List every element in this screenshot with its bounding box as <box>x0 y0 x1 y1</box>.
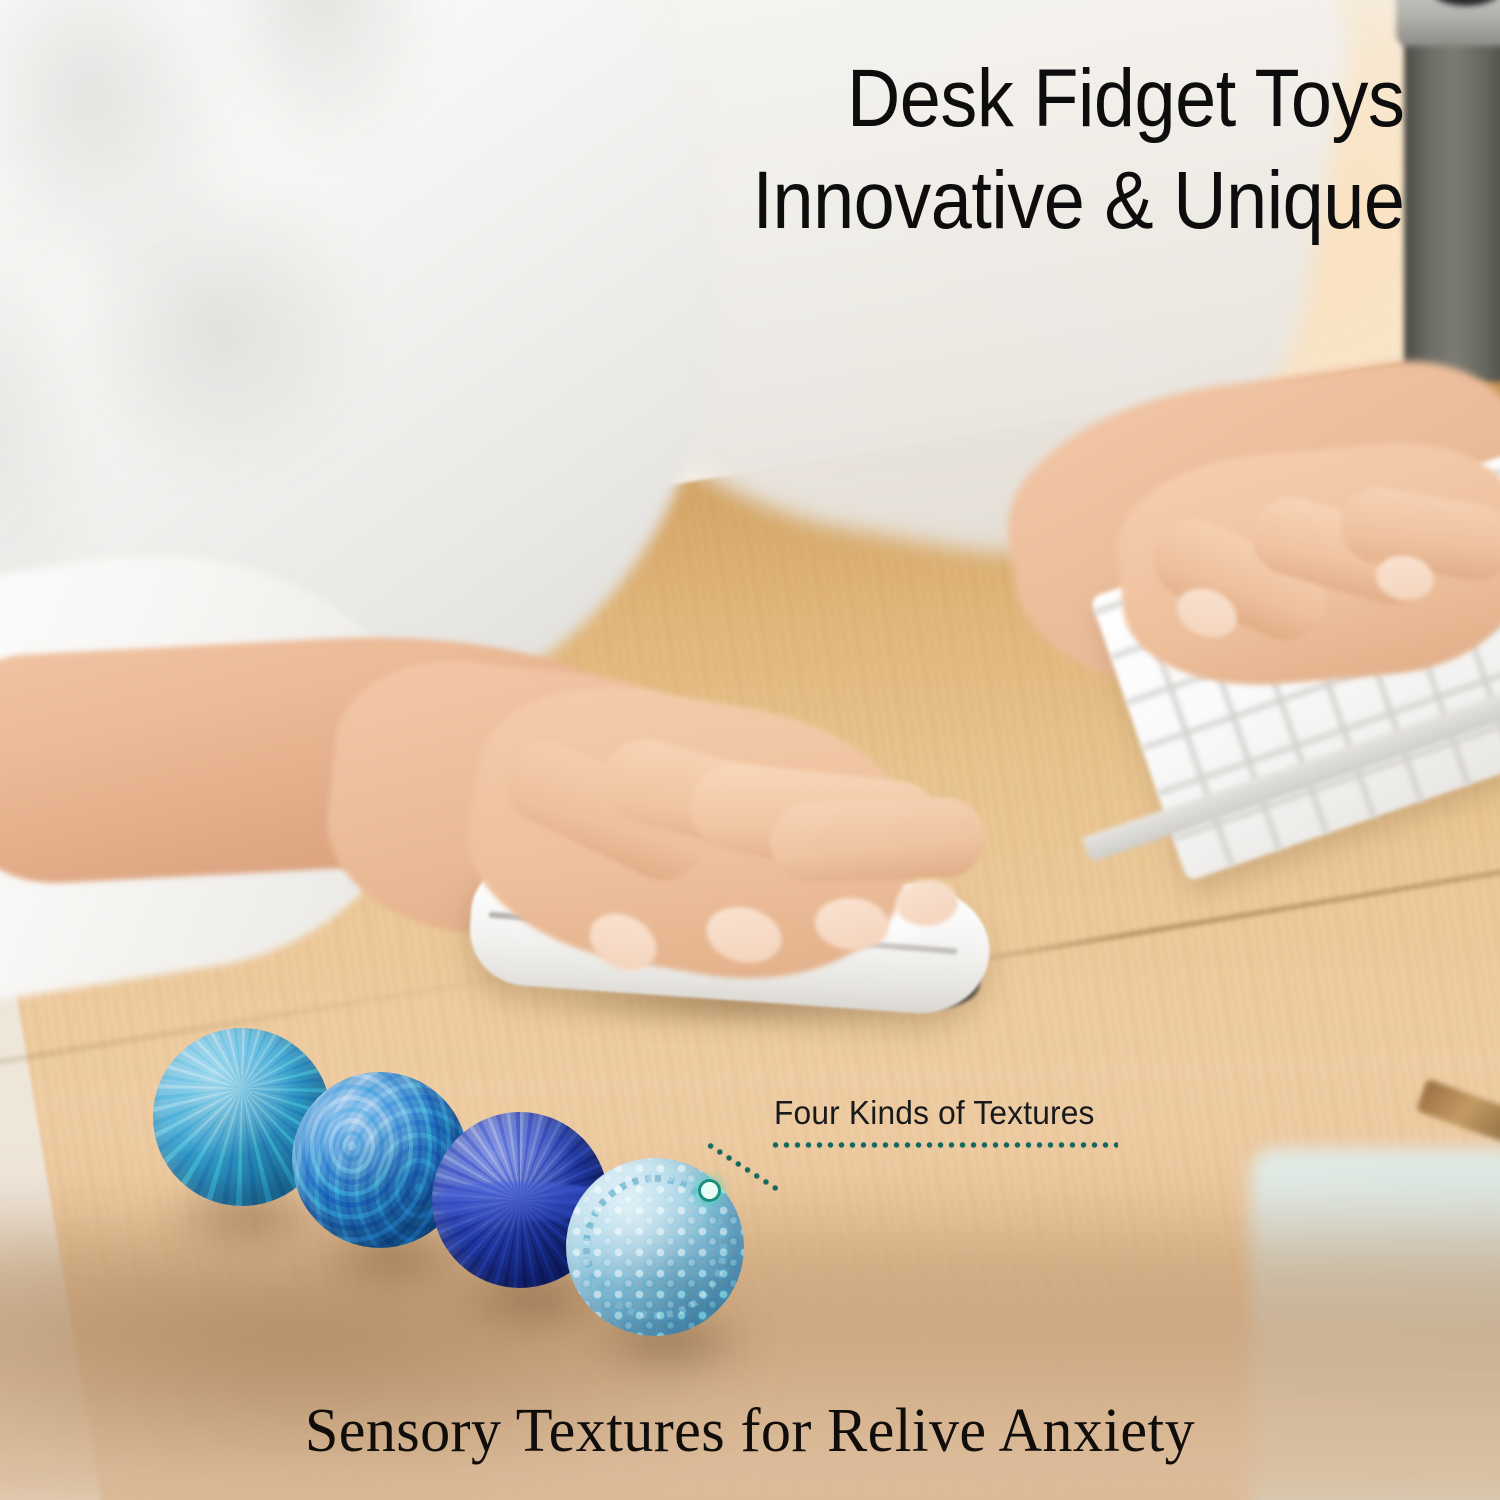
tumbler-body <box>1404 0 1500 382</box>
headline-line-1: Desk Fidget Toys <box>847 58 1404 140</box>
callout-label: Four Kinds of Textures <box>774 1094 1095 1132</box>
product-image-canvas: Four Kinds of Textures Desk Fidget Toys … <box>0 0 1500 1500</box>
tumbler-lid <box>1396 0 1500 46</box>
bottom-caption: Sensory Textures for Relive Anxiety <box>23 1396 1478 1467</box>
headline-line-2: Innovative & Unique <box>752 160 1404 242</box>
left-finger <box>769 796 987 883</box>
callout-leader-horizontal <box>770 1142 1118 1148</box>
callout-anchor-dot <box>698 1179 721 1202</box>
